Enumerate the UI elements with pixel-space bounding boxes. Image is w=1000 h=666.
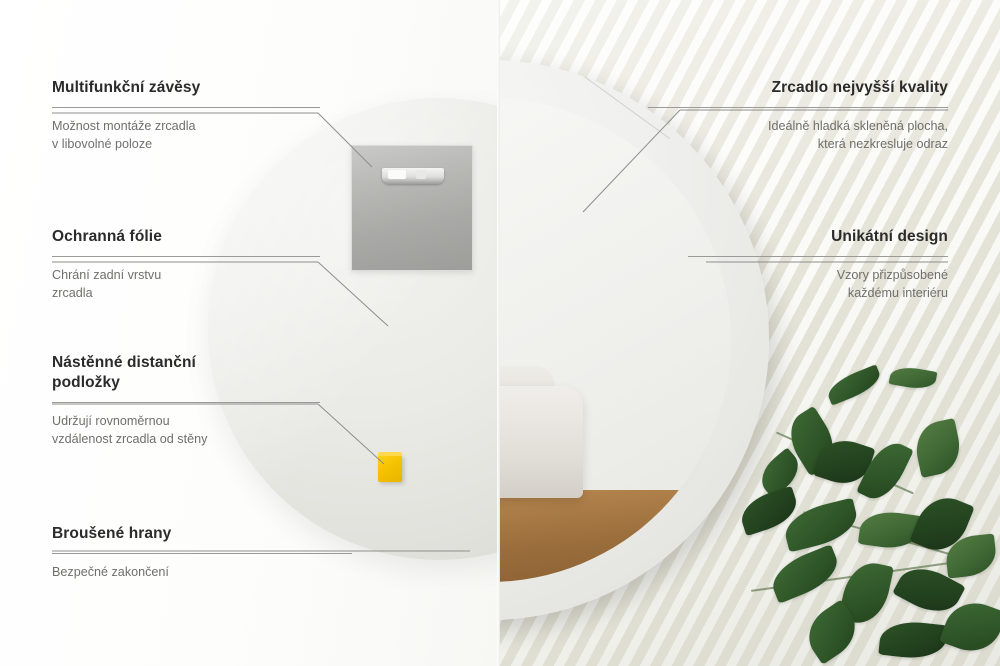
feature-block-multifunkcni-zavesy: Multifunkční závěsy Možnost montáže zrca… xyxy=(52,78,320,154)
feature-desc-line-2: která nezkresluje odraz xyxy=(818,137,948,151)
feature-description: Ideálně hladká skleněná plocha, která ne… xyxy=(648,118,948,154)
feature-description: Chrání zadní vrstvu zrcadla xyxy=(52,267,320,303)
feature-title: Unikátní design xyxy=(688,227,948,247)
feature-desc-line-1: Ideálně hladká skleněná plocha, xyxy=(768,119,948,133)
feature-rule xyxy=(52,107,320,108)
feature-block-brousene-hrany: Broušené hrany Bezpečné zakončení xyxy=(52,524,352,582)
mounting-bracket-detail xyxy=(351,145,473,271)
feature-desc-line-2: v libovolné poloze xyxy=(52,137,152,151)
feature-block-zrcadlo-nejvyssi-kvality: Zrcadlo nejvyšší kvality Ideálně hladká … xyxy=(648,78,948,154)
feature-title: Ochranná fólie xyxy=(52,227,320,247)
panel-divider xyxy=(497,0,500,666)
feature-description: Bezpečné zakončení xyxy=(52,564,352,582)
feature-rule xyxy=(688,256,948,257)
feature-block-nastenne-distancni-podlozky: Nástěnné distanční podložky Udržují rovn… xyxy=(52,353,320,448)
feature-rule xyxy=(52,553,352,554)
feature-desc-line-1: Chrání zadní vrstvu xyxy=(52,268,161,282)
feature-rule xyxy=(52,402,320,403)
feature-desc-line-1: Možnost montáže zrcadla xyxy=(52,119,196,133)
bracket-slot-highlight-secondary xyxy=(416,170,426,179)
mirror-reflection xyxy=(499,98,731,582)
feature-title: Nástěnné distanční podložky xyxy=(52,353,320,393)
bracket-slot-highlight xyxy=(388,170,406,179)
feature-block-ochranna-folie: Ochranná fólie Chrání zadní vrstvu zrcad… xyxy=(52,227,320,303)
feature-title: Zrcadlo nejvyšší kvality xyxy=(648,78,948,98)
feature-rule xyxy=(52,256,320,257)
feature-description: Vzory přizpůsobené každému interiéru xyxy=(688,267,948,303)
infographic-canvas: Multifunkční závěsy Možnost montáže zrca… xyxy=(0,0,1000,666)
feature-desc-line-2: vzdálenost zrcadla od stěny xyxy=(52,432,207,446)
feature-desc-line-2: zrcadla xyxy=(52,286,93,300)
bracket-hanger-slot xyxy=(382,168,444,184)
feature-title-line-2: podložky xyxy=(52,374,120,391)
sofa-seat xyxy=(499,386,583,498)
feature-desc-line-2: každému interiéru xyxy=(848,286,948,300)
feature-block-unikatni-design: Unikátní design Vzory přizpůsobené každé… xyxy=(688,227,948,303)
feature-description: Možnost montáže zrcadla v libovolné polo… xyxy=(52,118,320,154)
reflected-wood-floor xyxy=(499,490,731,582)
feature-description: Udržují rovnoměrnou vzdálenost zrcadla o… xyxy=(52,413,320,449)
feature-desc-line-1: Bezpečné zakončení xyxy=(52,565,169,579)
feature-desc-line-1: Vzory přizpůsobené xyxy=(837,268,948,282)
feature-title-line-1: Nástěnné distanční xyxy=(52,354,196,371)
mirror-glass xyxy=(499,98,731,582)
feature-rule xyxy=(648,107,948,108)
feature-title: Multifunkční závěsy xyxy=(52,78,320,98)
feature-desc-line-1: Udržují rovnoměrnou xyxy=(52,414,170,428)
feature-title: Broušené hrany xyxy=(52,524,352,544)
wall-spacer-pad xyxy=(378,455,402,482)
